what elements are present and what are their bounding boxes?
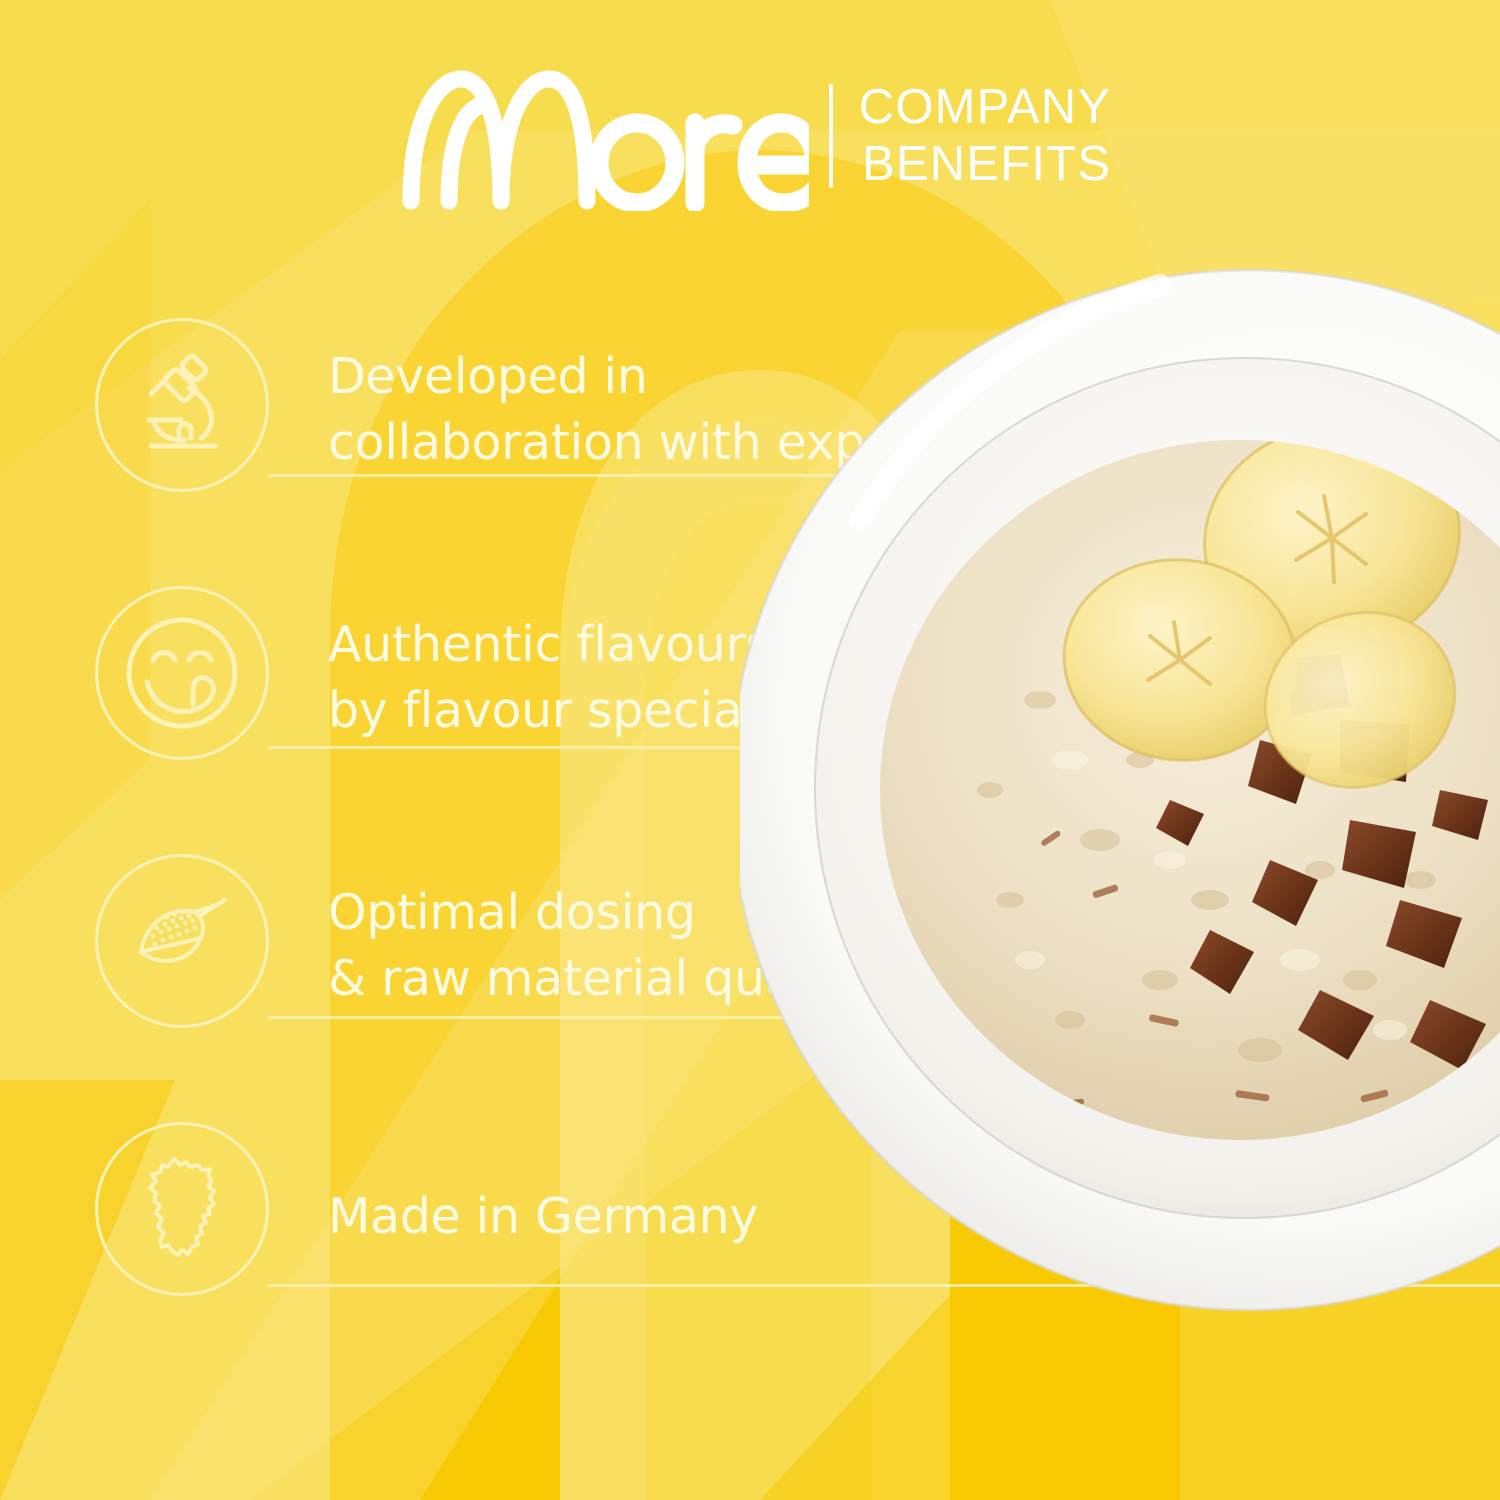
benefit-text: Authentic flavours crafted by flavour sp… (328, 612, 1088, 743)
benefit-text: Developed in collaboration with experts (328, 344, 1088, 475)
tagline-line-1: COMPANY (859, 82, 1112, 133)
benefit-text: Made in Germany (328, 1184, 1088, 1250)
grain-ear-icon (95, 854, 269, 1028)
benefit-divider (268, 474, 1500, 477)
benefit-divider (268, 746, 1500, 749)
benefit-line-1: Authentic flavours crafted (328, 612, 1088, 678)
benefit-divider (268, 1284, 1500, 1287)
benefit-row: Optimal dosing & raw material quality (0, 836, 1500, 1104)
germany-map-icon (95, 1122, 269, 1296)
benefit-row: Developed in collaboration with experts (0, 300, 1500, 568)
benefit-line-1: Made in Germany (328, 1184, 1088, 1250)
benefit-line-2: collaboration with experts (328, 410, 1088, 476)
smiley-tongue-icon (95, 586, 269, 760)
benefit-line-1: Optimal dosing (328, 880, 1088, 946)
benefit-line-2: & raw material quality (328, 946, 1088, 1012)
more-logo-wordmark (389, 61, 809, 211)
microscope-icon (95, 318, 269, 492)
benefit-line-1: Developed in (328, 344, 1088, 410)
tagline-line-2: BENEFITS (862, 139, 1111, 190)
brand-header: COMPANY BENEFITS (0, 56, 1500, 216)
poster-canvas: COMPANY BENEFITS (0, 0, 1500, 1500)
benefit-divider (268, 1016, 1500, 1019)
benefit-row: Made in Germany (0, 1104, 1500, 1372)
benefits-list: Developed in collaboration with experts (0, 300, 1500, 1372)
benefit-row: Authentic flavours crafted by flavour sp… (0, 568, 1500, 836)
logo-tagline: COMPANY BENEFITS (859, 82, 1112, 190)
benefit-text: Optimal dosing & raw material quality (328, 880, 1088, 1011)
benefit-line-2: by flavour specialists (328, 678, 1088, 744)
logo-divider (829, 84, 833, 188)
